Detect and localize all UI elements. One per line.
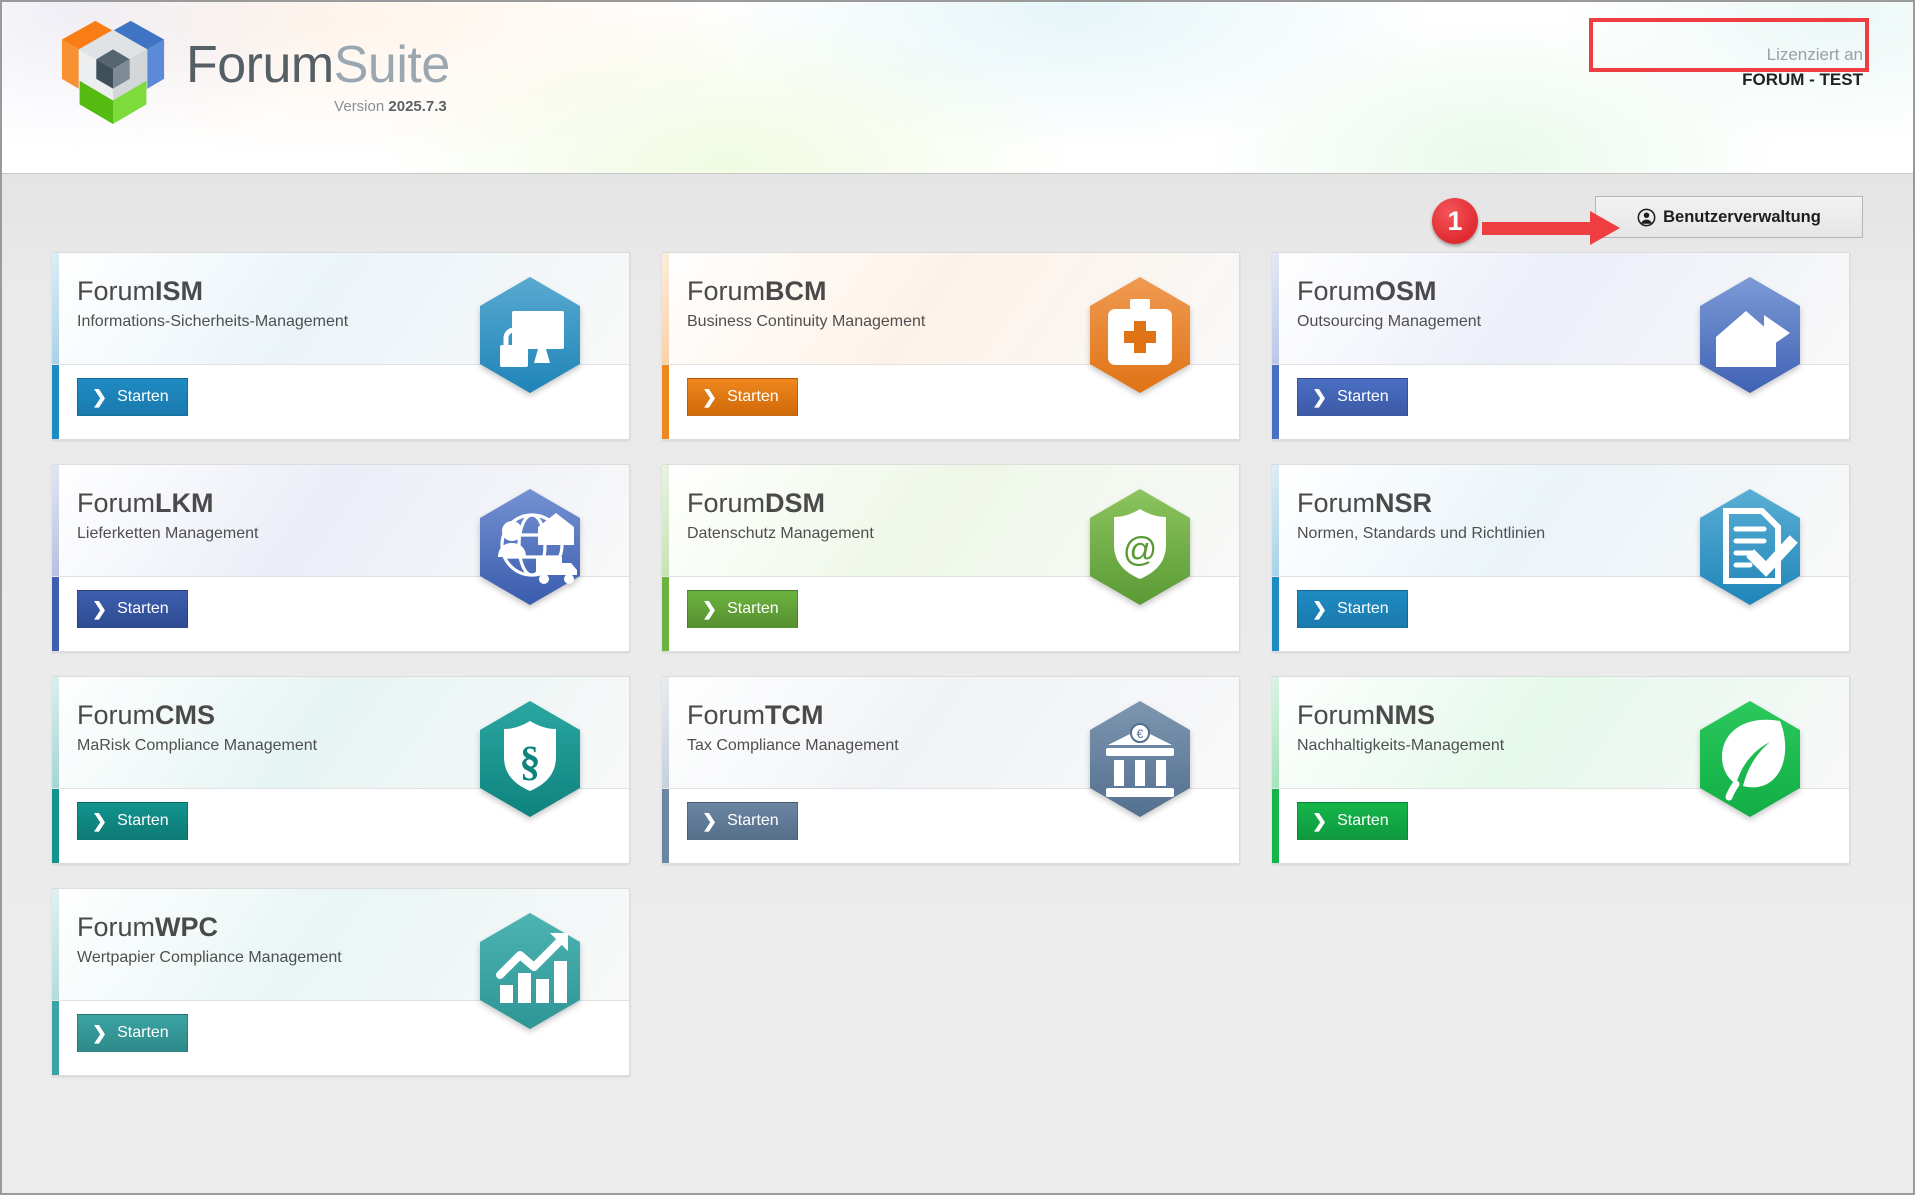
card-body: ❯Starten [662, 789, 1239, 864]
main-content: Benutzerverwaltung ForumISMInformations-… [2, 174, 1913, 1193]
card-title: ForumTCM [687, 699, 1239, 731]
brand-title: ForumSuite [186, 38, 450, 92]
start-button-label: Starten [117, 1024, 169, 1042]
card-subtitle: Lieferketten Management [77, 525, 629, 543]
callout-badge-1: 1 [1432, 198, 1478, 244]
card-header: ForumOSMOutsourcing Management [1272, 253, 1849, 365]
card-body: ❯Starten [52, 577, 629, 652]
card-title-prefix: Forum [687, 700, 765, 730]
card-header: ForumNSRNormen, Standards und Richtlinie… [1272, 465, 1849, 577]
chevron-right-icon: ❯ [702, 812, 717, 830]
chevron-right-icon: ❯ [1312, 388, 1327, 406]
card-body: ❯Starten [52, 365, 629, 440]
card-title-code: TCM [765, 700, 823, 730]
module-card-tcm[interactable]: ForumTCMTax Compliance Management❯Starte… [662, 676, 1240, 864]
card-body: ❯Starten [52, 789, 629, 864]
start-button-dsm[interactable]: ❯Starten [687, 590, 798, 628]
start-button-cms[interactable]: ❯Starten [77, 802, 188, 840]
start-button-label: Starten [117, 812, 169, 830]
card-subtitle: MaRisk Compliance Management [77, 737, 629, 755]
start-button-nsr[interactable]: ❯Starten [1297, 590, 1408, 628]
start-button-label: Starten [1337, 600, 1389, 618]
brand-title-forum: Forum [186, 36, 334, 94]
card-title: ForumCMS [77, 699, 629, 731]
card-title-prefix: Forum [77, 276, 155, 306]
card-title-code: BCM [765, 276, 827, 306]
card-subtitle: Nachhaltigkeits-Management [1297, 737, 1849, 755]
card-subtitle: Business Continuity Management [687, 313, 1239, 331]
card-title-code: WPC [155, 912, 218, 942]
start-button-label: Starten [727, 812, 779, 830]
card-title: ForumOSM [1297, 275, 1849, 307]
card-title: ForumDSM [687, 487, 1239, 519]
version-label: Version [334, 98, 384, 115]
card-subtitle: Informations-Sicherheits-Management [77, 313, 629, 331]
chevron-right-icon: ❯ [702, 388, 717, 406]
card-subtitle: Tax Compliance Management [687, 737, 1239, 755]
start-button-tcm[interactable]: ❯Starten [687, 802, 798, 840]
start-button-wpc[interactable]: ❯Starten [77, 1014, 188, 1052]
callout-arrow-icon [1482, 228, 1622, 229]
module-card-grid: ForumISMInformations-Sicherheits-Managem… [2, 252, 1913, 1076]
license-label: Lizenziert an [1742, 42, 1863, 67]
card-title-prefix: Forum [687, 488, 765, 518]
app-header: ForumSuite Version 2025.7.3 Lizenziert a… [2, 2, 1913, 174]
card-title-code: OSM [1375, 276, 1437, 306]
license-name: FORUM - TEST [1742, 67, 1863, 92]
start-button-bcm[interactable]: ❯Starten [687, 378, 798, 416]
card-title-code: NSR [1375, 488, 1432, 518]
card-body: ❯Starten [662, 365, 1239, 440]
module-card-nsr[interactable]: ForumNSRNormen, Standards und Richtlinie… [1272, 464, 1850, 652]
forum-suite-hexagon-logo-icon [54, 14, 172, 126]
start-button-label: Starten [1337, 388, 1389, 406]
card-title-prefix: Forum [1297, 488, 1375, 518]
start-button-label: Starten [117, 600, 169, 618]
start-button-lkm[interactable]: ❯Starten [77, 590, 188, 628]
start-button-osm[interactable]: ❯Starten [1297, 378, 1408, 416]
start-button-label: Starten [727, 600, 779, 618]
card-header: ForumDSMDatenschutz Management [662, 465, 1239, 577]
brand-logo: ForumSuite Version 2025.7.3 [54, 14, 450, 126]
card-header: ForumLKMLieferketten Management [52, 465, 629, 577]
card-subtitle: Datenschutz Management [687, 525, 1239, 543]
module-card-dsm[interactable]: ForumDSMDatenschutz Management❯Starten@ [662, 464, 1240, 652]
start-button-label: Starten [1337, 812, 1389, 830]
card-title-prefix: Forum [1297, 276, 1375, 306]
chevron-right-icon: ❯ [1312, 600, 1327, 618]
card-title-prefix: Forum [77, 700, 155, 730]
card-title-code: LKM [155, 488, 213, 518]
user-circle-icon [1637, 208, 1656, 227]
module-card-bcm[interactable]: ForumBCMBusiness Continuity Management❯S… [662, 252, 1240, 440]
card-title: ForumLKM [77, 487, 629, 519]
card-title: ForumBCM [687, 275, 1239, 307]
chevron-right-icon: ❯ [92, 388, 107, 406]
card-header: ForumNMSNachhaltigkeits-Management [1272, 677, 1849, 789]
module-card-nms[interactable]: ForumNMSNachhaltigkeits-Management❯Start… [1272, 676, 1850, 864]
license-block: Lizenziert an FORUM - TEST [1742, 42, 1863, 92]
chevron-right-icon: ❯ [92, 600, 107, 618]
card-header: ForumTCMTax Compliance Management [662, 677, 1239, 789]
user-administration-button[interactable]: Benutzerverwaltung [1595, 196, 1863, 238]
version-line: Version 2025.7.3 [186, 98, 450, 115]
version-value: 2025.7.3 [388, 98, 446, 115]
action-row: Benutzerverwaltung [2, 174, 1913, 252]
card-title-prefix: Forum [77, 488, 155, 518]
card-title-code: ISM [155, 276, 203, 306]
card-title-code: NMS [1375, 700, 1435, 730]
application-page: ForumSuite Version 2025.7.3 Lizenziert a… [0, 0, 1915, 1195]
card-subtitle: Wertpapier Compliance Management [77, 949, 629, 967]
card-body: ❯Starten [1272, 577, 1849, 652]
module-card-lkm[interactable]: ForumLKMLieferketten Management❯Starten [52, 464, 630, 652]
brand-title-suite: Suite [334, 36, 450, 94]
card-header: ForumCMSMaRisk Compliance Management [52, 677, 629, 789]
module-card-osm[interactable]: ForumOSMOutsourcing Management❯Starten [1272, 252, 1850, 440]
chevron-right-icon: ❯ [702, 600, 717, 618]
card-body: ❯Starten [52, 1001, 629, 1076]
user-administration-label: Benutzerverwaltung [1663, 208, 1821, 227]
card-subtitle: Normen, Standards und Richtlinien [1297, 525, 1849, 543]
module-card-cms[interactable]: ForumCMSMaRisk Compliance Management❯Sta… [52, 676, 630, 864]
card-body: ❯Starten [662, 577, 1239, 652]
module-card-wpc[interactable]: ForumWPCWertpapier Compliance Management… [52, 888, 630, 1076]
card-title: ForumNSR [1297, 487, 1849, 519]
card-title-code: CMS [155, 700, 215, 730]
start-button-nms[interactable]: ❯Starten [1297, 802, 1408, 840]
card-header: ForumISMInformations-Sicherheits-Managem… [52, 253, 629, 365]
start-button-label: Starten [117, 388, 169, 406]
card-subtitle: Outsourcing Management [1297, 313, 1849, 331]
card-title-prefix: Forum [1297, 700, 1375, 730]
card-body: ❯Starten [1272, 365, 1849, 440]
chevron-right-icon: ❯ [92, 1024, 107, 1042]
module-card-ism[interactable]: ForumISMInformations-Sicherheits-Managem… [52, 252, 630, 440]
card-title: ForumNMS [1297, 699, 1849, 731]
card-title-prefix: Forum [687, 276, 765, 306]
start-button-label: Starten [727, 388, 779, 406]
card-title-prefix: Forum [77, 912, 155, 942]
card-header: ForumBCMBusiness Continuity Management [662, 253, 1239, 365]
chevron-right-icon: ❯ [92, 812, 107, 830]
card-body: ❯Starten [1272, 789, 1849, 864]
start-button-ism[interactable]: ❯Starten [77, 378, 188, 416]
card-title: ForumISM [77, 275, 629, 307]
card-title: ForumWPC [77, 911, 629, 943]
card-title-code: DSM [765, 488, 825, 518]
card-header: ForumWPCWertpapier Compliance Management [52, 889, 629, 1001]
chevron-right-icon: ❯ [1312, 812, 1327, 830]
